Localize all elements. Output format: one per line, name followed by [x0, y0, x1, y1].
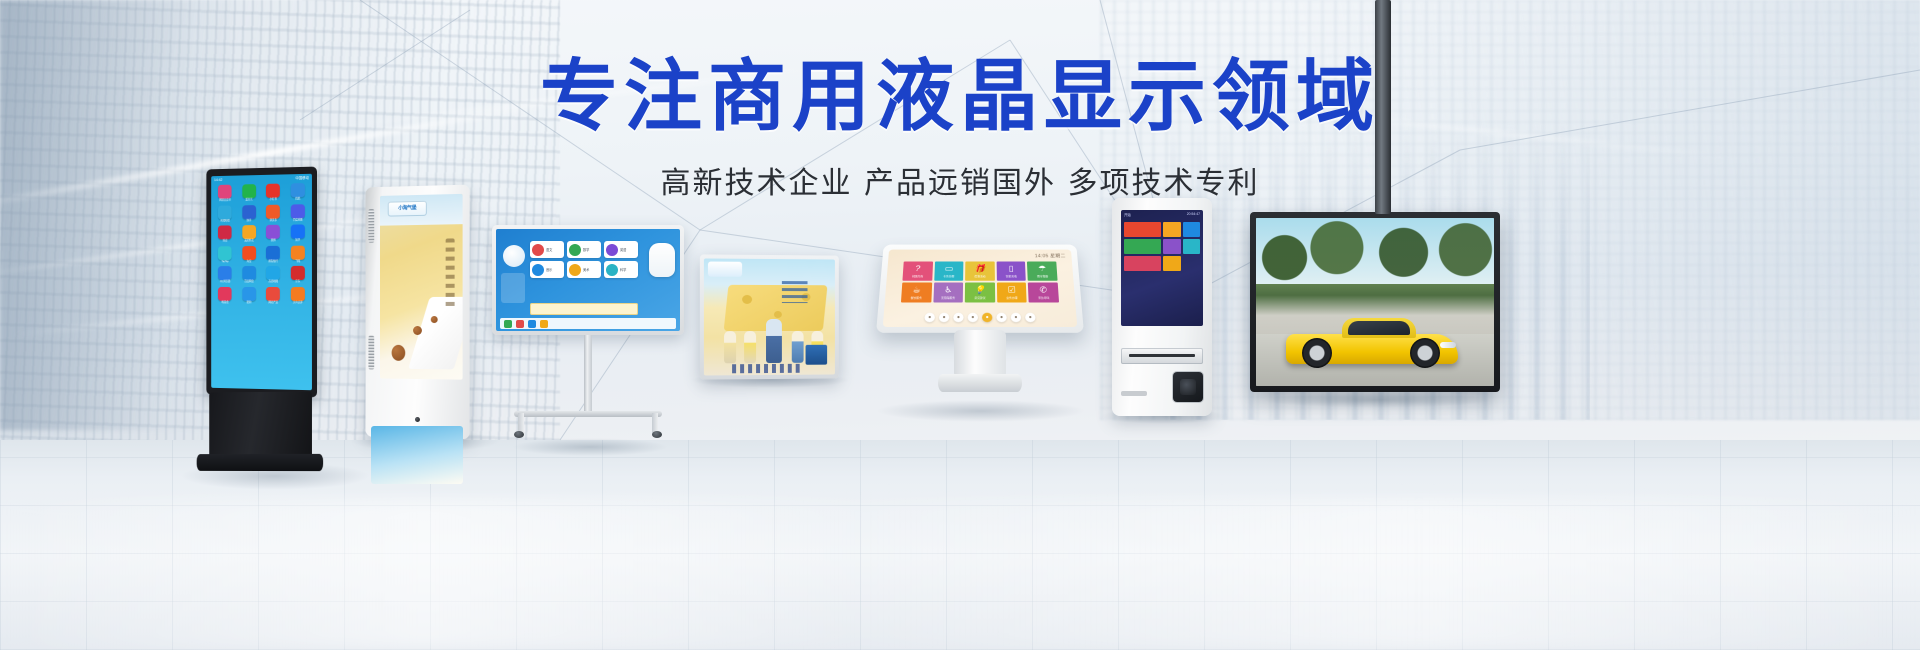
p3-caster-wheel: [652, 431, 662, 438]
subject-icon: [532, 264, 544, 276]
p5-service-tile[interactable]: ☕餐饮服务: [901, 283, 932, 303]
p7-car-window: [1348, 321, 1410, 335]
app-icon: [291, 204, 305, 218]
p5-dock-item[interactable]: ●: [1011, 313, 1022, 322]
p4-ad-brand-badge: [708, 262, 742, 277]
p5-tile-label: 无障碍服务: [941, 296, 955, 300]
p4-ad-caption: [732, 364, 802, 373]
app-icon: [291, 287, 305, 301]
p7-car-wheel: [1410, 338, 1440, 368]
app-icon: [266, 287, 280, 301]
p5-tile-label: 智能充电: [1006, 274, 1017, 278]
p4-ad-claim-text: [782, 281, 808, 303]
p2-brand-badge: 小淘气堡: [388, 201, 427, 217]
p6-status-start: 开始: [1124, 212, 1131, 217]
service-icon: ☕: [912, 286, 921, 294]
p2-screen[interactable]: 小淘气堡: [380, 194, 463, 380]
p3-subject-tile[interactable]: 美术: [567, 261, 601, 278]
p5-tile-label: 意见建议: [974, 296, 985, 300]
p6-tile[interactable]: [1124, 256, 1161, 271]
p3-tile-label: 科学: [620, 267, 626, 272]
p1-screen[interactable]: 14:42 中国移动 网易云音乐爱奇艺小红书优酷哔哩哔哩快手拼多多百度地图抖音美…: [211, 174, 312, 390]
p1-app-label: 携程旅行: [268, 261, 278, 264]
p4-child-figure: [792, 331, 804, 363]
p7-tree-backdrop: [1256, 218, 1494, 284]
app-icon: [291, 245, 305, 259]
p1-base-plate: [197, 454, 323, 471]
p1-app-icon[interactable]: 高德地图: [262, 266, 284, 284]
headline-block: 专注商用液晶显示领域 高新技术企业 产品远销国外 多项技术专利: [0, 58, 1920, 202]
p6-tile[interactable]: [1183, 222, 1201, 237]
p1-app-icon[interactable]: 拼多多: [262, 204, 284, 222]
p1-app-label: 飞猪: [295, 261, 300, 264]
p5-tile-label: 业务办理: [1006, 296, 1017, 300]
app-icon: [291, 225, 305, 239]
app-icon: [242, 225, 256, 239]
p6-card-slot[interactable]: [1121, 391, 1147, 396]
p6-tile[interactable]: [1183, 239, 1201, 254]
p4-cheese-hole: [774, 311, 782, 318]
p1-app-label: TapTap: [222, 261, 229, 264]
p5-screen[interactable]: 14:05 星期二 ?问题咨询▭卡务办理🎁优惠活动▯智能充电☂雨伞租借☕餐饮服务…: [883, 250, 1078, 327]
p1-app-icon[interactable]: 网易严选: [262, 287, 284, 305]
p2-frame: 小淘气堡: [366, 185, 470, 440]
p3-dock-icon[interactable]: [528, 320, 536, 328]
p5-base: [938, 374, 1022, 392]
product-tilted-touch-kiosk[interactable]: 14:05 星期二 ?问题咨询▭卡务办理🎁优惠活动▯智能充电☂雨伞租借☕餐饮服务…: [880, 238, 1080, 413]
p3-tile-label: 语文: [546, 247, 552, 252]
p6-tile[interactable]: [1124, 239, 1161, 254]
p5-dock-item[interactable]: ●: [939, 313, 950, 322]
p3-bezel: 语文数学英语音乐美术科学: [492, 225, 684, 335]
product-wall-tv[interactable]: [1250, 212, 1500, 392]
product-self-service-terminal[interactable]: 开始 20:54:47: [1112, 198, 1212, 416]
subject-icon: [532, 244, 544, 256]
app-icon: [218, 246, 232, 260]
product-wall-ad-display[interactable]: [700, 255, 840, 379]
app-icon: [266, 246, 280, 260]
p6-screen[interactable]: 开始 20:54:47: [1121, 210, 1203, 326]
p7-car-headlight: [1440, 342, 1456, 348]
p5-service-tiles[interactable]: ?问题咨询▭卡务办理🎁优惠活动▯智能充电☂雨伞租借☕餐饮服务♿无障碍服务💡意见建…: [901, 262, 1059, 303]
service-icon: ▭: [945, 265, 954, 273]
p3-caster-wheel: [514, 431, 524, 438]
p1-app-icon[interactable]: QQ浏览器: [214, 266, 236, 283]
service-icon: 🎁: [974, 265, 985, 273]
p4-cheese-hole: [742, 295, 752, 304]
p4-child-figure: [744, 331, 756, 363]
subject-icon: [569, 244, 581, 256]
p2-lower-panel: [371, 426, 463, 484]
p3-subject-tile[interactable]: 科学: [604, 261, 638, 278]
app-icon: [218, 287, 232, 301]
product-shadow: [1262, 392, 1492, 408]
p1-app-icon[interactable]: 京东: [286, 266, 309, 284]
p4-child-figure: [724, 331, 736, 363]
p5-service-tile[interactable]: ♿无障碍服务: [933, 283, 963, 303]
subject-icon: [569, 264, 581, 276]
p2-child-figure: [392, 345, 406, 361]
p3-tile-label: 音乐: [546, 267, 552, 272]
p3-dock[interactable]: [500, 318, 676, 329]
p5-dock-item[interactable]: ●: [968, 313, 978, 322]
avatar: [503, 245, 525, 267]
p5-tile-label: 餐饮服务: [910, 296, 922, 300]
p5-clock: 14:05 星期二: [1035, 253, 1066, 259]
p5-tile-label: 雨伞租借: [1037, 274, 1048, 278]
p1-app-label: 京东: [295, 281, 300, 284]
p5-dock-item[interactable]: ●: [996, 313, 1006, 322]
p1-app-label: 知乎: [295, 240, 300, 243]
product-vertical-totem-kiosk[interactable]: 14:42 中国移动 网易云音乐爱奇艺小红书优酷哔哩哔哩快手拼多多百度地图抖音美…: [205, 168, 325, 478]
p6-tile[interactable]: [1124, 222, 1161, 237]
service-icon: 💡: [974, 286, 985, 294]
p3-subject-tile[interactable]: 英语: [604, 241, 638, 258]
app-icon: [242, 266, 256, 280]
p6-tile-grid[interactable]: [1121, 219, 1203, 274]
p3-subject-tile[interactable]: 数学: [567, 241, 601, 258]
p4-product-pack: [806, 345, 828, 365]
page-title: 专注商用液晶显示领域: [0, 58, 1920, 136]
p1-app-label: 微博: [271, 240, 276, 243]
subject-icon: [606, 244, 618, 256]
p1-app-icon[interactable]: 微博: [262, 225, 284, 243]
app-icon: [218, 205, 232, 219]
p5-dock-item[interactable]: ●: [982, 313, 992, 322]
app-icon: [266, 266, 280, 280]
p3-subject-tiles[interactable]: 语文数学英语音乐美术科学: [530, 241, 638, 278]
p1-app-label: 酷狗: [247, 302, 252, 305]
p5-service-tile[interactable]: ▭卡务办理: [934, 262, 964, 281]
service-icon: ?: [915, 265, 920, 273]
product-wall-vertical-display[interactable]: 小淘气堡: [364, 186, 470, 438]
p3-stand-pole: [584, 335, 592, 413]
p3-tile-label: 英语: [620, 247, 626, 252]
camera-icon: [415, 417, 420, 422]
p5-tile-label: 优惠活动: [974, 274, 985, 278]
p3-stand-crossbar: [514, 411, 662, 417]
p5-service-tile[interactable]: ☑业务办理: [997, 283, 1027, 303]
p6-body: 开始 20:54:47: [1112, 198, 1212, 416]
p3-dock-icon[interactable]: [540, 320, 548, 328]
p6-statusbar: 开始 20:54:47: [1121, 210, 1203, 219]
p1-app-icon[interactable]: 快手: [238, 205, 260, 223]
p1-app-label: 网易严选: [268, 302, 278, 305]
p1-app-label: QQ浏览器: [220, 281, 231, 284]
p5-service-tile[interactable]: 🎁优惠活动: [965, 262, 994, 281]
p1-app-icon[interactable]: TapTap: [214, 246, 236, 264]
app-icon: [218, 226, 232, 240]
p5-tile-label: 卡务办理: [943, 274, 954, 278]
p3-subject-tile[interactable]: 音乐: [530, 261, 564, 278]
p1-app-label: 大众点评: [293, 302, 303, 305]
p1-app-icon[interactable]: 百度网盘: [238, 266, 260, 284]
p1-app-label: 唯品会: [222, 302, 229, 305]
p6-tile[interactable]: [1163, 222, 1181, 237]
p3-tile-label: 美术: [583, 267, 589, 272]
p3-mascot-figure: [649, 243, 675, 277]
p6-printer-slit: [1129, 354, 1195, 357]
app-icon: [242, 246, 256, 260]
p5-service-tile[interactable]: 💡意见建议: [965, 283, 995, 303]
p1-app-label: 拼多多: [270, 219, 277, 222]
p4-bezel: [700, 254, 839, 379]
p5-service-tile[interactable]: ✆紧急呼叫: [1028, 283, 1059, 303]
p1-app-label: 淘宝: [247, 261, 252, 264]
p1-app-icon[interactable]: 唯品会: [214, 287, 236, 305]
p2-speaker-top: [368, 209, 374, 243]
p3-screen[interactable]: 语文数学英语音乐美术科学: [496, 229, 680, 331]
subject-icon: [606, 264, 618, 276]
p5-service-tile[interactable]: ☂雨伞租借: [1027, 262, 1057, 281]
p1-app-icon[interactable]: 大众点评: [286, 287, 309, 305]
app-icon: [291, 266, 305, 280]
p5-dock-item[interactable]: ●: [953, 313, 963, 322]
product-interactive-whiteboard[interactable]: 语文数学英语音乐美术科学: [492, 225, 684, 440]
scanner-icon: [1180, 379, 1196, 395]
app-icon: [218, 266, 232, 280]
p5-tile-label: 问题咨询: [912, 274, 923, 278]
p5-dock-item[interactable]: ●: [924, 313, 935, 322]
service-icon: ♿: [944, 286, 952, 294]
p1-app-icon[interactable]: 哔哩哔哩: [214, 205, 236, 223]
p1-app-icon[interactable]: 飞猪: [286, 245, 309, 263]
p3-dock-icon[interactable]: [504, 320, 512, 328]
p1-app-icon[interactable]: 美团外卖: [238, 225, 260, 243]
p1-app-label: 高德地图: [268, 281, 278, 284]
p7-screen[interactable]: [1256, 218, 1494, 386]
p1-app-icon[interactable]: 酷狗: [238, 287, 260, 305]
p1-app-label: 哔哩哔哩: [220, 220, 229, 223]
app-icon: [242, 287, 256, 301]
p4-screen[interactable]: [704, 258, 835, 375]
p1-app-icon[interactable]: 知乎: [286, 225, 309, 243]
background-floor-reflection: [0, 500, 1920, 650]
p5-neck: [954, 330, 1006, 376]
p1-app-label: 百度网盘: [244, 281, 253, 284]
p2-speaker-bottom: [368, 336, 374, 370]
p1-app-icon[interactable]: 百度地图: [286, 204, 309, 222]
app-icon: [266, 225, 280, 239]
p3-tile-label: 数学: [583, 247, 589, 252]
p5-tilted-head: 14:05 星期二 ?问题咨询▭卡务办理🎁优惠活动▯智能充电☂雨伞租借☕餐饮服务…: [876, 245, 1084, 333]
p3-subject-tile[interactable]: 语文: [530, 241, 564, 258]
app-icon: [242, 205, 256, 219]
p6-status-time: 20:54:47: [1187, 212, 1200, 217]
p5-service-tile[interactable]: ?问题咨询: [902, 262, 932, 281]
p6-tile[interactable]: [1163, 256, 1181, 271]
p1-app-label: 快手: [247, 220, 252, 223]
product-shadow: [512, 438, 668, 456]
p5-tile-label: 紧急呼叫: [1038, 296, 1050, 300]
p6-receipt-printer[interactable]: [1121, 348, 1203, 364]
p5-dock-item[interactable]: ●: [1025, 313, 1036, 322]
p6-tile[interactable]: [1163, 239, 1181, 254]
p1-pedestal: [209, 392, 312, 459]
p7-car-graphic: [1286, 312, 1458, 364]
p1-app-icon[interactable]: 抖音: [214, 226, 236, 244]
p3-notice-bar: [530, 303, 638, 315]
service-icon: ✆: [1039, 286, 1047, 294]
service-icon: ☑: [1008, 286, 1016, 294]
p1-app-icon[interactable]: 携程旅行: [262, 246, 284, 264]
p4-adult-figure: [766, 319, 782, 363]
p5-service-tile[interactable]: ▯智能充电: [996, 262, 1026, 281]
p2-brand-text: 小淘气堡: [388, 204, 427, 212]
p1-app-label: 美团外卖: [244, 240, 253, 243]
p6-scanner-module[interactable]: [1173, 372, 1203, 402]
app-icon: [266, 204, 280, 218]
service-icon: ▯: [1009, 265, 1014, 273]
service-icon: ☂: [1038, 265, 1046, 273]
p3-dock-icon[interactable]: [516, 320, 524, 328]
p2-ball: [431, 316, 438, 323]
p1-app-icon[interactable]: 淘宝: [238, 246, 260, 264]
p1-app-label: 百度地图: [293, 219, 303, 222]
p2-vertical-caption: [446, 238, 455, 309]
p2-ball: [413, 326, 422, 335]
p5-dock[interactable]: ●●●●●●●●: [902, 312, 1059, 323]
p1-app-label: 抖音: [223, 241, 228, 244]
p7-bezel: [1250, 212, 1500, 392]
p3-left-panel: [501, 273, 525, 303]
banner-stage: 专注商用液晶显示领域 高新技术企业 产品远销国外 多项技术专利 14:42 中国…: [0, 0, 1920, 650]
page-subtitle: 高新技术企业 产品远销国外 多项技术专利: [0, 158, 1920, 202]
p7-car-wheel: [1302, 338, 1332, 368]
